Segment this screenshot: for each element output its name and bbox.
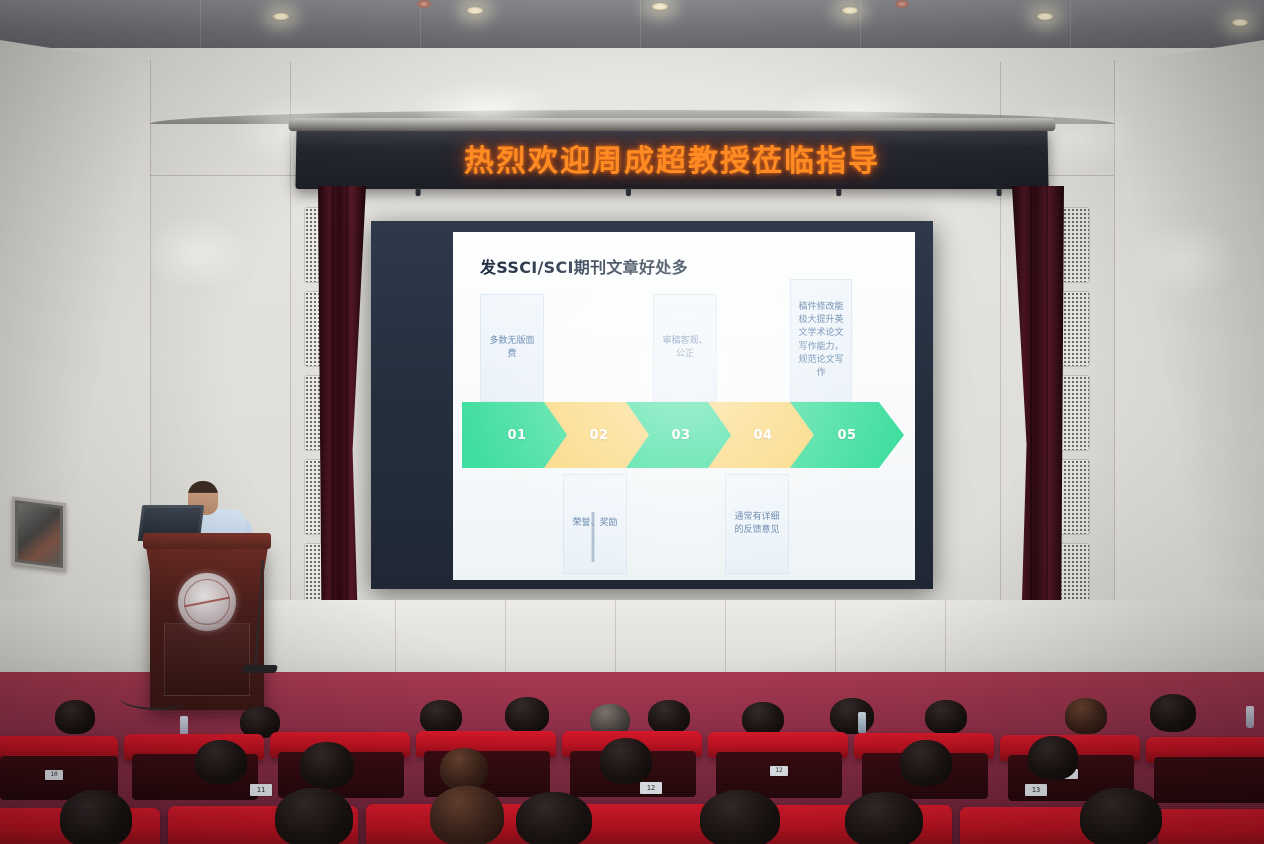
led-banner-text: 热烈欢迎周成超教授莅临指导 xyxy=(296,136,1049,180)
water-bottle xyxy=(1246,706,1254,728)
slide-callout-05: 稿件修改能极大提升英文学术论文写作能力，规范论文写作 xyxy=(790,279,852,402)
audience-head xyxy=(925,700,967,734)
header-rail xyxy=(289,118,1056,131)
seat-number-plate: 11 xyxy=(250,784,272,796)
audience-head xyxy=(1080,788,1162,844)
stage-header-panel: 热烈欢迎周成超教授莅临指导 xyxy=(295,127,1048,189)
chevron-01-label: 01 xyxy=(507,428,526,443)
slide-title: 发SSCI/SCI期刊文章好处多 xyxy=(480,254,688,278)
audience-head xyxy=(60,790,132,844)
audience-head xyxy=(300,742,354,788)
seat-back xyxy=(1154,757,1264,803)
speaker-shirt-placket xyxy=(592,512,595,562)
ceiling-light xyxy=(650,2,670,11)
slide-callout-01: 多数无版面费 xyxy=(480,294,544,402)
seat-number-plate: 12 xyxy=(640,782,662,794)
audience-head xyxy=(275,788,353,844)
podium-top xyxy=(143,533,271,549)
audience-head xyxy=(505,697,549,733)
seat-number-plate: 12 xyxy=(770,766,788,776)
wall-picture-art xyxy=(18,503,60,564)
ceiling-light-red xyxy=(417,0,431,8)
chevron-05-label: 05 xyxy=(837,428,856,443)
slide-callout-04: 通常有详细的反馈意见 xyxy=(725,474,789,574)
process-chevron-band: 01 02 03 04 05 xyxy=(462,402,907,468)
audience-head xyxy=(420,700,462,734)
ceiling-light xyxy=(1230,18,1250,27)
audience-head xyxy=(1028,736,1078,780)
ceiling-light xyxy=(840,6,860,15)
ceiling-light xyxy=(271,12,291,21)
chevron-03-label: 03 xyxy=(671,428,690,443)
audience-head xyxy=(845,792,923,844)
audience-head xyxy=(700,790,780,844)
audience-head xyxy=(600,738,652,784)
seat-number-plate: 13 xyxy=(1025,784,1047,796)
slide-callout-02: 荣誉、奖励 xyxy=(563,474,627,574)
audience-head xyxy=(516,792,592,844)
audience-head xyxy=(830,698,874,734)
microphone-base xyxy=(242,665,278,673)
audience-head xyxy=(900,740,952,786)
ceiling-light-red xyxy=(895,0,909,8)
presentation-slide: 发SSCI/SCI期刊文章好处多 多数无版面费 审稿客观、公正 稿件修改能极大提… xyxy=(453,232,915,580)
lecture-hall-photo: 热烈欢迎周成超教授莅临指导 发SSCI/SCI期刊文章好处多 多数无版面费 审稿… xyxy=(0,0,1264,844)
chevron-04-label: 04 xyxy=(753,428,772,443)
audience-head xyxy=(55,700,95,734)
podium-front-panel xyxy=(164,623,250,696)
chevron-02-label: 02 xyxy=(589,428,608,443)
audience-head xyxy=(195,740,247,784)
audience-head xyxy=(742,702,784,736)
audience-head xyxy=(648,700,690,734)
ceiling-light xyxy=(465,6,485,15)
podium xyxy=(150,545,264,710)
wall-picture-frame xyxy=(12,497,66,572)
seat-number-plate: 10 xyxy=(45,770,63,780)
water-bottle xyxy=(858,712,866,734)
audience-head xyxy=(440,748,488,790)
audience-head xyxy=(430,786,504,844)
seat xyxy=(1158,809,1264,844)
audience-head xyxy=(1065,698,1107,734)
audience-head xyxy=(1150,694,1196,732)
slide-callout-03: 审稿客观、公正 xyxy=(653,294,717,402)
projection-screen: 发SSCI/SCI期刊文章好处多 多数无版面费 审稿客观、公正 稿件修改能极大提… xyxy=(371,221,933,589)
ceiling-light xyxy=(1035,12,1055,21)
